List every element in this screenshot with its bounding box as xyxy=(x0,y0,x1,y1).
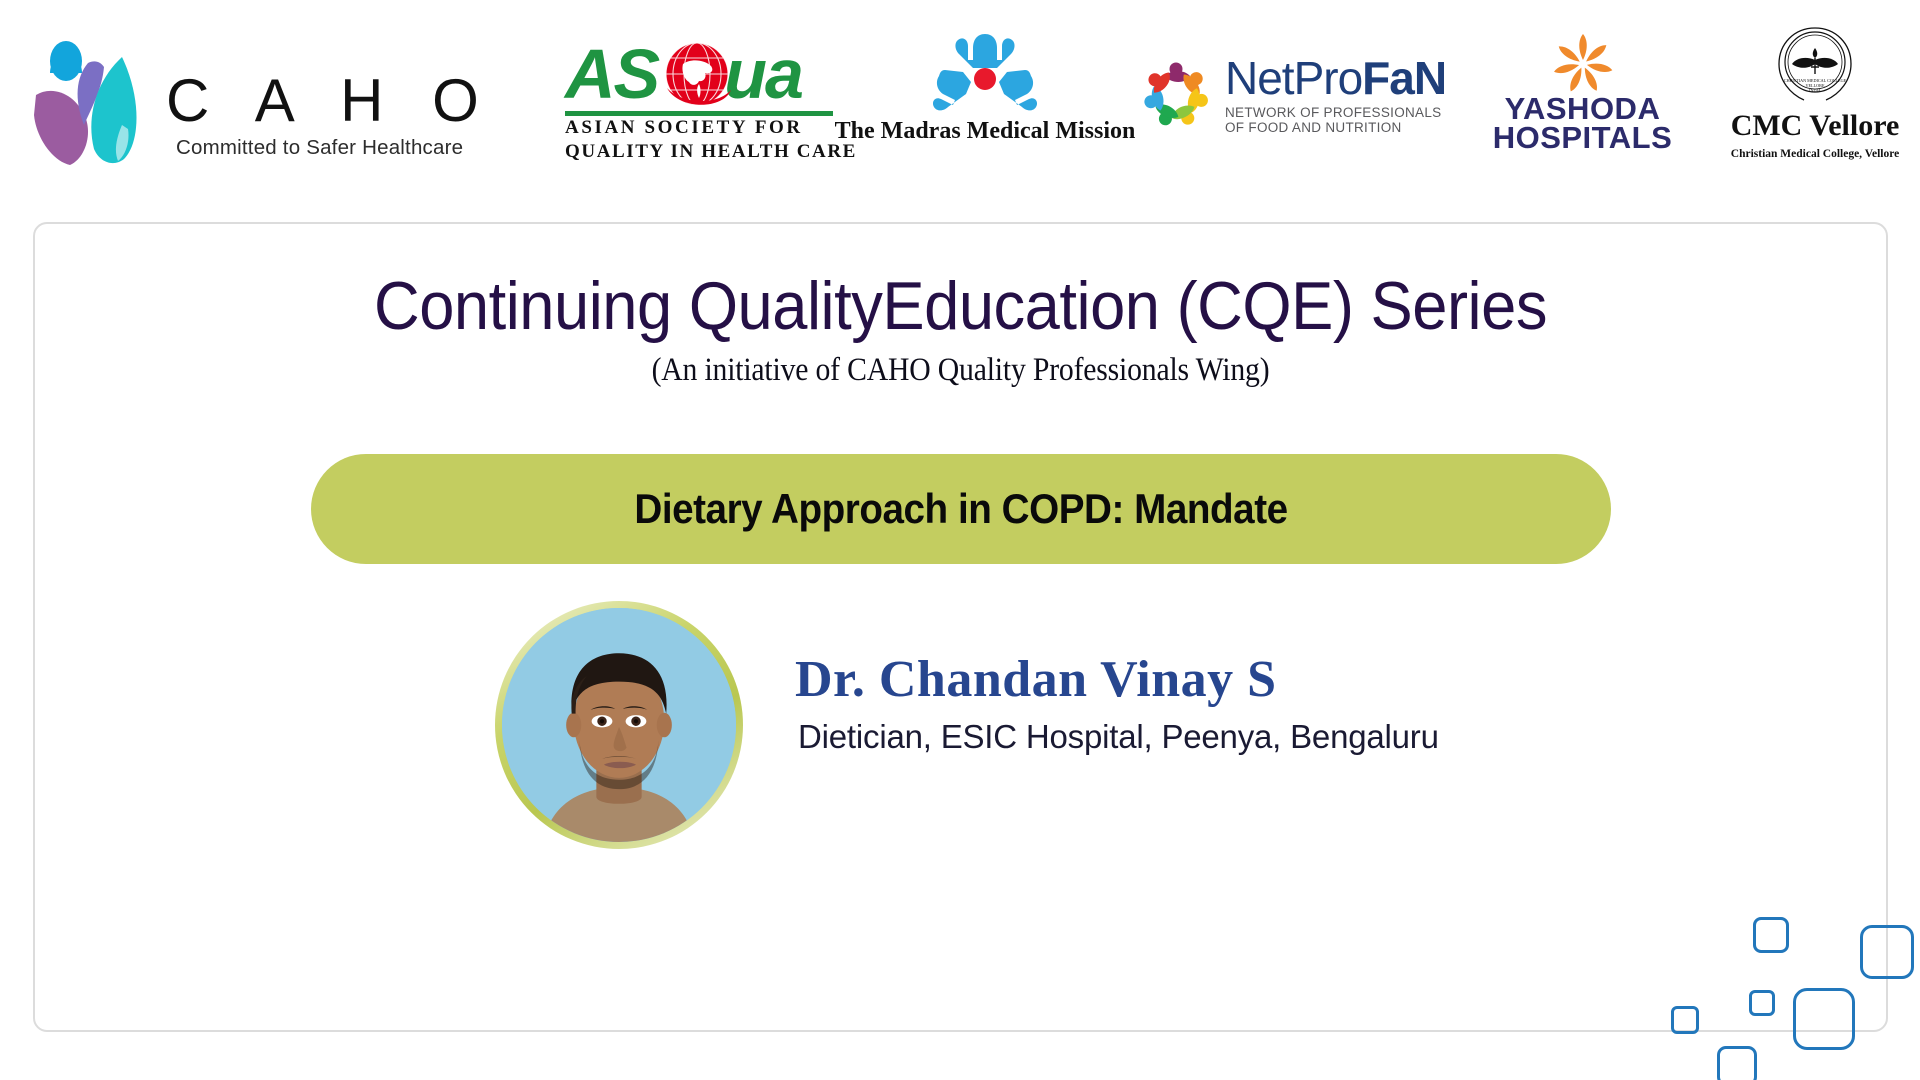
asqua-wordmark-pre: AS xyxy=(565,35,658,113)
netprofan-subtitle-line1: NETWORK OF PROFESSIONALS xyxy=(1225,105,1446,121)
decorative-square xyxy=(1717,1046,1757,1080)
slide-canvas: C A H O Committed to Safer Healthcare AS… xyxy=(0,0,1920,1080)
topic-title: Dietary Approach in COPD: Mandate xyxy=(634,485,1287,533)
svg-text:INDIA: INDIA xyxy=(1809,88,1821,93)
netprofan-wordmark: NetProFaN xyxy=(1225,55,1446,101)
netprofan-word-bold: FaN xyxy=(1362,52,1446,104)
page-title: Continuing QualityEducation (CQE) Series xyxy=(100,268,1821,344)
logo-madras-medical-mission: The Madras Medical Mission xyxy=(860,32,1110,157)
cmc-wordmark: CMC Vellore xyxy=(1731,110,1900,142)
page-subtitle: (An initiative of CAHO Quality Professio… xyxy=(128,352,1794,389)
asqua-globe-icon xyxy=(661,40,733,112)
topic-banner: Dietary Approach in COPD: Mandate xyxy=(311,454,1611,564)
madras-wordmark: The Madras Medical Mission xyxy=(835,118,1136,145)
logo-asqua: ASua xyxy=(565,38,835,158)
logo-cmc-vellore: CHRISTIAN MEDICAL COLLEGE VELLORE INDIA … xyxy=(1725,22,1905,157)
asqua-underline xyxy=(565,111,833,116)
cmc-subtitle: Christian Medical College, Vellore xyxy=(1731,148,1899,160)
decorative-square xyxy=(1860,925,1914,979)
decorative-square xyxy=(1749,990,1775,1016)
yashoda-line2: HOSPITALS xyxy=(1493,123,1673,152)
decorative-square xyxy=(1753,917,1789,953)
speaker-name: Dr. Chandan Vinay S xyxy=(795,651,1439,709)
logo-netprofan: NetProFaN NETWORK OF PROFESSIONALS OF FO… xyxy=(1135,40,1425,150)
netprofan-subtitle: NETWORK OF PROFESSIONALS OF FOOD AND NUT… xyxy=(1225,105,1446,136)
netprofan-people-circle-icon xyxy=(1135,54,1217,136)
avatar xyxy=(495,601,743,849)
yashoda-line1: YASHODA xyxy=(1505,94,1661,123)
speaker-role: Dietician, ESIC Hospital, Peenya, Bengal… xyxy=(798,717,1439,757)
netprofan-word-light: NetPro xyxy=(1225,52,1362,104)
caho-tagline: Committed to Safer Healthcare xyxy=(176,136,463,160)
speaker-details: Dr. Chandan Vinay S Dietician, ESIC Hosp… xyxy=(795,651,1439,757)
caho-wordmark: C A H O xyxy=(166,71,495,131)
decorative-square xyxy=(1671,1006,1699,1034)
madras-trefoil-icon xyxy=(933,32,1037,112)
asqua-subtitle-line1: ASIAN SOCIETY FOR xyxy=(565,117,803,139)
speaker-block: Dr. Chandan Vinay S Dietician, ESIC Hosp… xyxy=(465,601,1565,871)
logo-yashoda-hospitals: YASHODA HOSPITALS xyxy=(1485,30,1680,155)
logo-caho: C A H O Committed to Safer Healthcare xyxy=(30,28,530,173)
partner-logo-strip: C A H O Committed to Safer Healthcare AS… xyxy=(0,0,1920,190)
asqua-wordmark-post: ua xyxy=(724,35,802,113)
decorative-square xyxy=(1793,988,1855,1050)
speaker-portrait-image xyxy=(502,608,736,842)
yashoda-flower-icon xyxy=(1546,30,1620,92)
caho-emblem-icon xyxy=(30,33,150,168)
cmc-seal-icon: CHRISTIAN MEDICAL COLLEGE VELLORE INDIA xyxy=(1772,22,1858,108)
content-card: Continuing QualityEducation (CQE) Series… xyxy=(33,222,1888,1032)
netprofan-subtitle-line2: OF FOOD AND NUTRITION xyxy=(1225,120,1446,136)
asqua-subtitle-line2: QUALITY IN HEALTH CARE xyxy=(565,141,857,163)
